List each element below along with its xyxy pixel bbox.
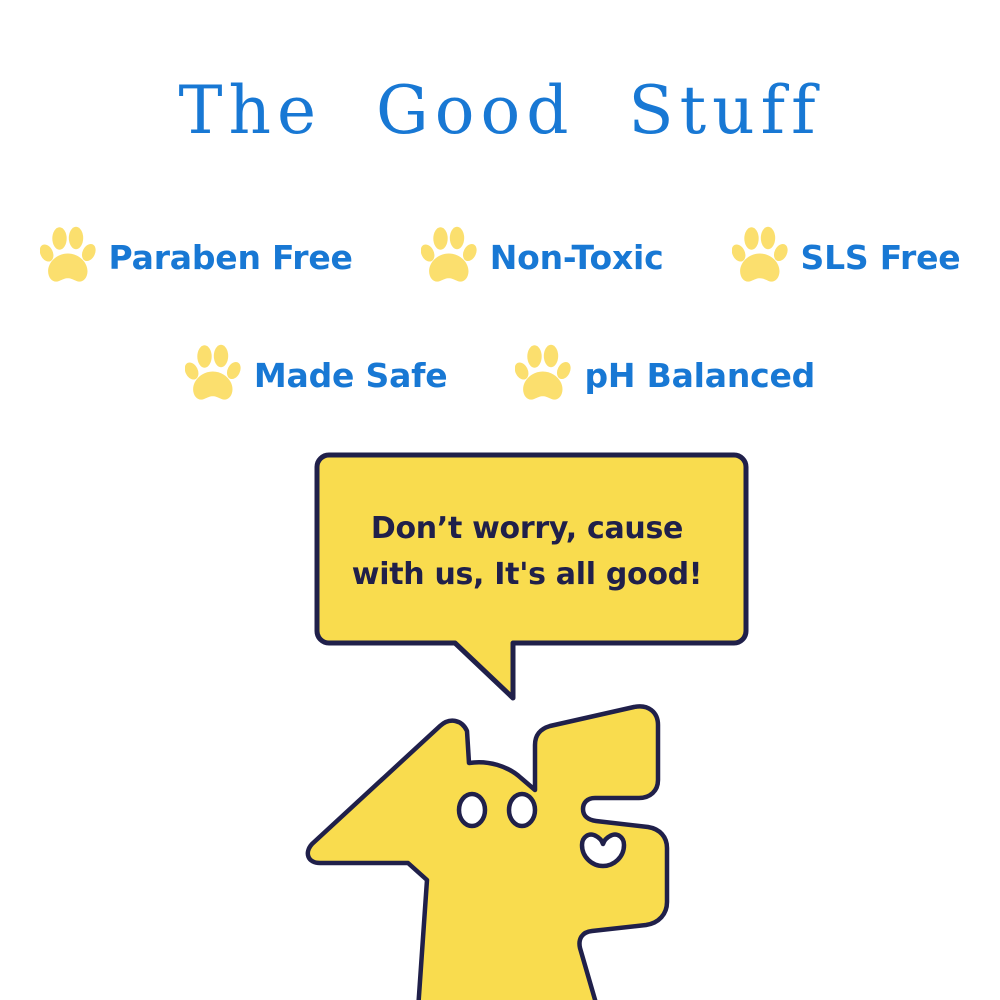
right-eye [509, 794, 535, 826]
paw-print-icon [421, 226, 477, 288]
badge-sls-free: SLS Free [732, 226, 961, 288]
paw-print-icon [732, 226, 788, 288]
badge-label: Made Safe [254, 359, 448, 392]
speech-line-1: Don’t worry, cause [297, 506, 757, 552]
dog-mascot-shape [290, 690, 690, 1000]
paw-print-icon [185, 344, 241, 406]
badge-non-toxic: Non-Toxic [421, 226, 664, 288]
badge-row-1: Paraben Free Non-Toxic SLS Free [0, 226, 1000, 288]
badge-row-2: Made Safe pH Balanced [0, 344, 1000, 406]
left-eye [459, 794, 485, 826]
badge-label: Paraben Free [109, 241, 353, 274]
badge-made-safe: Made Safe [185, 344, 448, 406]
poster-canvas: The Good Stuff Paraben Free Non-Toxic [0, 0, 1000, 1000]
paw-print-icon [40, 226, 96, 288]
badge-label: SLS Free [801, 241, 961, 274]
speech-line-2: with us, It's all good! [297, 552, 757, 598]
speech-bubble: Don’t worry, cause with us, It's all goo… [297, 448, 757, 708]
speech-bubble-text: Don’t worry, cause with us, It's all goo… [297, 506, 757, 598]
badge-label: pH Balanced [584, 359, 815, 392]
dog-mascot [290, 690, 690, 1000]
page-title: The Good Stuff [0, 76, 1000, 145]
nose-mouth [582, 835, 624, 866]
paw-print-icon [515, 344, 571, 406]
badge-label: Non-Toxic [490, 241, 664, 274]
badge-paraben-free: Paraben Free [40, 226, 353, 288]
badge-ph-balanced: pH Balanced [515, 344, 815, 406]
